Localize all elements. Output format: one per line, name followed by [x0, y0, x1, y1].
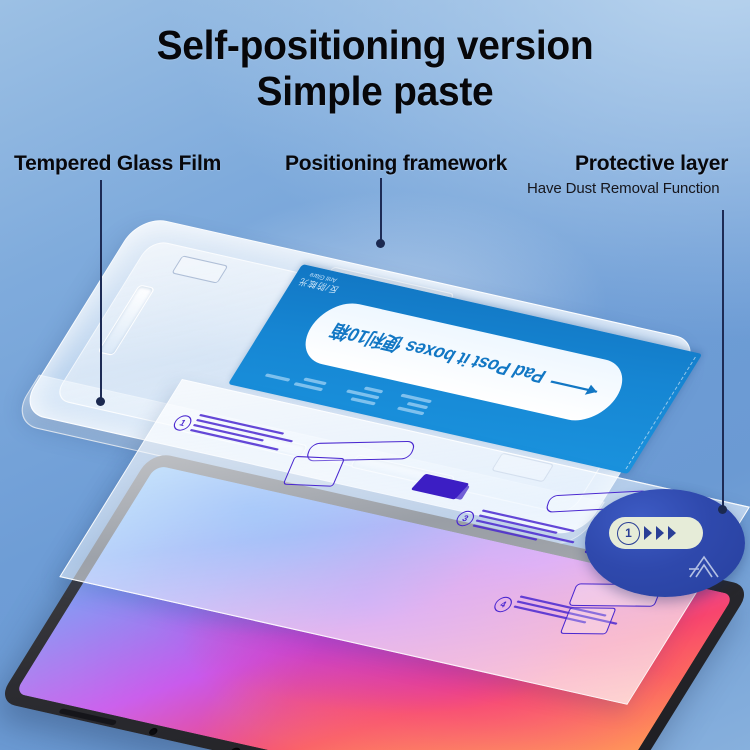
- left-arrow-icon: [550, 380, 597, 392]
- microphone-port: [148, 727, 159, 736]
- instruction-step-number: 4: [491, 595, 515, 613]
- leader-line-positioning-framework: [380, 178, 382, 244]
- chevron-right-icon: [644, 526, 652, 540]
- wipe-cloth-icon: [283, 456, 345, 487]
- callout-protective-layer: Protective layer: [575, 152, 728, 176]
- headline-line-2: Simple paste: [19, 68, 732, 114]
- brand-logo-icon: [687, 553, 721, 581]
- leader-line-protective-layer: [722, 210, 724, 510]
- product-infographic: Self-positioning version Simple paste: [0, 0, 750, 750]
- callout-tempered-glass-film: Tempered Glass Film: [14, 152, 221, 176]
- instruction-text-lines: [188, 414, 296, 456]
- chevron-right-icon: [656, 526, 664, 540]
- headline-line-1: Self-positioning version: [19, 22, 732, 68]
- leader-line-tempered-glass: [100, 180, 102, 402]
- leader-dot-protective-layer: [718, 505, 727, 514]
- callout-protective-layer-sub: Have Dust Removal Function: [527, 180, 719, 197]
- chevron-right-icon: [668, 526, 676, 540]
- leader-dot-tempered-glass: [96, 397, 105, 406]
- leader-dot-positioning-framework: [376, 239, 385, 248]
- dust-step-number: 1: [617, 522, 640, 545]
- callout-positioning-framework: Positioning framework: [285, 152, 507, 176]
- instruction-text-lines: [471, 509, 581, 551]
- dust-sticker-badge: 1: [609, 517, 703, 549]
